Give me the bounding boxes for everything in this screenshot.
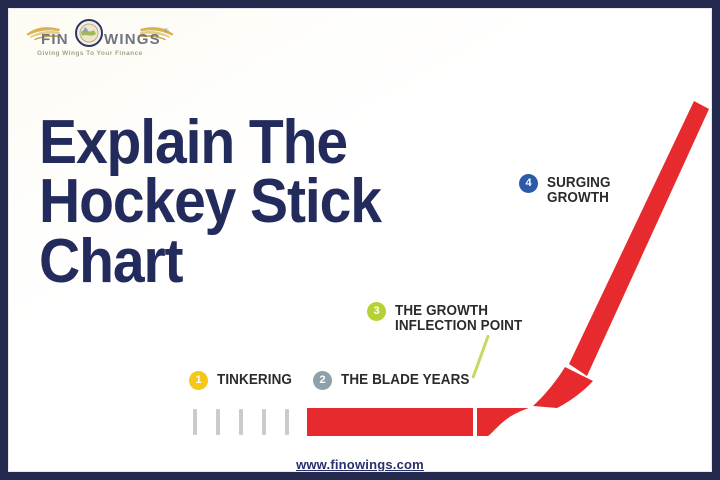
callout-surging-growth[interactable]: 4 SURGING GROWTH (519, 174, 615, 206)
poster-frame: FIN WINGS ® Giving Wings To Your Finance… (0, 0, 720, 480)
website-url[interactable]: www.finowings.com (9, 457, 711, 472)
callout-label-1: TINKERING (217, 371, 292, 388)
callout-badge-4: 4 (519, 174, 538, 193)
callout-badge-2: 2 (313, 371, 332, 390)
blade-years-segment (307, 408, 473, 436)
callout-badge-1: 1 (189, 371, 208, 390)
callout-label-3: THE GROWTH INFLECTION POINT (395, 302, 522, 334)
callout-growth-inflection-point[interactable]: 3 THE GROWTH INFLECTION POINT (367, 302, 532, 334)
callout-label-2: THE BLADE YEARS (341, 371, 470, 388)
callout-badge-3: 3 (367, 302, 386, 321)
callout-label-4: SURGING GROWTH (547, 174, 611, 206)
callout-blade-years[interactable]: 2 THE BLADE YEARS (313, 371, 479, 390)
inflection-segment-a (477, 408, 529, 436)
hockey-stick-chart (9, 9, 711, 471)
hockey-stick-curve (9, 9, 712, 472)
surging-growth-shaft (569, 101, 709, 376)
callout-tinkering[interactable]: 1 TINKERING (189, 371, 298, 390)
poster-canvas: FIN WINGS ® Giving Wings To Your Finance… (8, 8, 712, 472)
